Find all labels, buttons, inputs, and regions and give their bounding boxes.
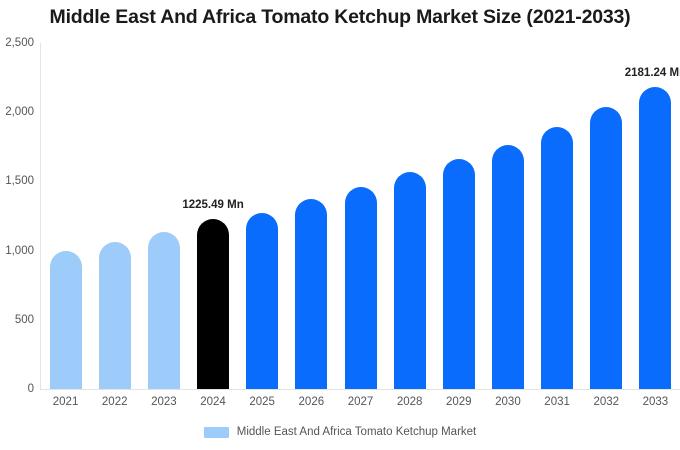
x-axis-tick-2024: 2024	[188, 396, 237, 408]
bar-2033[interactable]	[639, 87, 671, 389]
bar-2023[interactable]	[148, 232, 180, 389]
bar-2026[interactable]	[295, 199, 327, 389]
x-axis-tick-2022: 2022	[90, 396, 139, 408]
bar-group	[197, 43, 229, 389]
x-axis-tick-2027: 2027	[336, 396, 385, 408]
chart-title: Middle East And Africa Tomato Ketchup Ma…	[0, 6, 680, 29]
bar-2027[interactable]	[345, 187, 377, 389]
y-axis-tick: 2,000	[0, 106, 34, 118]
legend-swatch[interactable]	[204, 427, 229, 438]
bar-group	[50, 43, 82, 389]
bar-2021[interactable]	[50, 251, 82, 389]
bar-group	[590, 43, 622, 389]
x-axis-tick-2030: 2030	[483, 396, 532, 408]
y-axis-tick: 1,000	[0, 245, 34, 257]
x-axis-tick-2028: 2028	[385, 396, 434, 408]
x-axis-tick-2029: 2029	[434, 396, 483, 408]
y-axis-tick: 500	[0, 314, 34, 326]
x-axis-tick-2026: 2026	[287, 396, 336, 408]
chart-container: Middle East And Africa Tomato Ketchup Ma…	[0, 0, 680, 450]
bar-2025[interactable]	[246, 213, 278, 389]
bar-group	[394, 43, 426, 389]
chart-legend: Middle East And Africa Tomato Ketchup Ma…	[0, 426, 680, 438]
legend-label[interactable]: Middle East And Africa Tomato Ketchup Ma…	[237, 426, 477, 438]
bar-2029[interactable]	[443, 159, 475, 389]
x-axis-tick-2033: 2033	[631, 396, 680, 408]
x-axis-tick-labels: 2021202220232024202520262027202820292030…	[41, 396, 680, 416]
x-axis-line	[40, 389, 680, 390]
x-axis-tick-2025: 2025	[238, 396, 287, 408]
bar-group	[295, 43, 327, 389]
bar-group	[492, 43, 524, 389]
y-axis-tick: 2,500	[0, 37, 34, 49]
bar-value-label-2033: 2181.24 Mn	[625, 67, 680, 79]
bar-group	[443, 43, 475, 389]
bar-group	[639, 43, 671, 389]
y-axis-tick: 1,500	[0, 175, 34, 187]
bar-value-label-2024: 1225.49 Mn	[182, 199, 243, 211]
y-axis-tick: 0	[0, 383, 34, 395]
bars-layer: 1225.49 Mn2181.24 Mn	[41, 43, 680, 389]
x-axis-tick-2032: 2032	[582, 396, 631, 408]
bar-2031[interactable]	[541, 127, 573, 389]
bar-group	[99, 43, 131, 389]
x-axis-tick-2031: 2031	[533, 396, 582, 408]
bar-2028[interactable]	[394, 172, 426, 389]
bar-group	[148, 43, 180, 389]
bar-group	[246, 43, 278, 389]
bar-2024[interactable]	[197, 219, 229, 389]
x-axis-tick-2021: 2021	[41, 396, 90, 408]
x-axis-tick-2023: 2023	[139, 396, 188, 408]
bar-2022[interactable]	[99, 242, 131, 389]
bar-2030[interactable]	[492, 145, 524, 389]
bar-2032[interactable]	[590, 107, 622, 389]
bar-group	[345, 43, 377, 389]
bar-group	[541, 43, 573, 389]
